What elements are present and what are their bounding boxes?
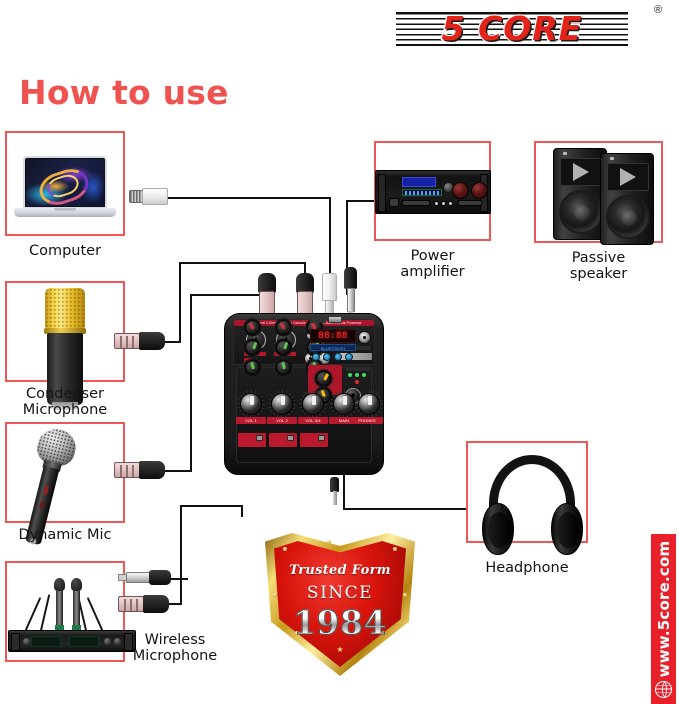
mixer-group-label [310,316,326,323]
amp-vu-meter [402,189,442,196]
usb-plug-contacts [129,190,143,203]
badge-line-2: SINCE [265,583,415,603]
ch2-high-knob[interactable] [276,340,291,355]
badge-rivet-1 [283,547,287,551]
ch2-gain-knob[interactable] [276,320,291,335]
xlr-body-1 [139,332,165,350]
wire-headphone-v1 [343,470,345,510]
amp-rca-3 [448,201,453,206]
condenser-mic-grille [45,288,85,329]
laptop-trackpad-notch [54,208,76,211]
wire-computer-h1 [160,197,331,199]
badge-line-3: 1984 [265,603,415,642]
speaker-woofer-left [559,190,603,234]
passive-speaker-label-line2: speaker [534,266,663,282]
wire-wireless-v2 [241,505,243,517]
phones-label: PHONES [351,417,383,424]
registered-trademark-icon: ® [654,4,662,16]
mixer-switch-1[interactable] [256,435,263,441]
wire-condenser-v1 [179,262,181,343]
amp-terminal-strip [402,200,430,206]
dynamic-microphone-label: Dynamic Mic [0,527,130,543]
badge-rivet-2 [327,540,331,544]
wire-dynamic-v1 [190,294,192,472]
mixer-switch-3[interactable] [318,435,325,441]
mixer-led-1 [348,373,352,377]
amp-power-socket [389,198,399,207]
antenna-1 [25,597,41,631]
logo-wordmark: 5 CORE [396,6,628,50]
usb-plug-shell-2 [322,273,337,301]
speaker-horn-left [560,158,602,186]
mixer-led-display: 88:88 [310,329,356,343]
page-title: How to use [19,73,229,112]
amp-rca-2 [441,201,446,206]
wire-amp-h1 [346,200,374,202]
wire-wireless-h2 [180,505,243,507]
mixer-usb-port[interactable] [328,316,342,323]
phones-knob[interactable] [358,393,380,415]
xlr-barrel-1 [114,333,140,349]
xlr-body-3 [143,595,169,613]
receiver-knob-1 [23,638,30,645]
wireless-mic-2-grille [71,578,82,591]
xlr-plug-2-body [296,273,314,293]
wireless-mic-1-grille [54,578,65,591]
wire-headphone-h1 [343,508,468,510]
trs-plug-grip [344,267,357,289]
trs-grip [149,570,171,585]
receiver-ear-left [11,633,20,651]
wire-dynamic-h2 [190,294,267,296]
ch1-gain-knob[interactable] [245,320,260,335]
mixer-power-led [355,380,359,384]
xlr-plug-1-body [258,273,276,293]
speaker-woofer-right [606,195,650,239]
amp-volume-knob-left [452,182,469,199]
vol34-label: VOL.3/4 [298,417,328,424]
globe-icon [655,681,672,698]
antenna-2 [40,594,50,631]
receiver-display-1 [31,636,61,647]
badge-line-1: Trusted Form [265,563,415,578]
ch2-low-knob[interactable] [276,360,291,375]
vol2-label: VOL.2 [267,417,297,424]
ch1-low-knob[interactable] [245,360,260,375]
computer-label: Computer [5,243,125,259]
speaker-led-left [563,152,567,155]
mixer-bluetooth-bar: BLUETOOTH [310,344,356,351]
main-knob[interactable] [333,393,355,415]
headphone-plug-sleeve [333,491,337,505]
mixer-led-2 [355,373,359,377]
xlr-barrel-2 [114,462,140,478]
fx-delay-knob[interactable] [316,371,331,386]
speaker-icon-left [553,148,607,240]
vol34-knob[interactable] [302,393,324,415]
condenser-microphone-label-line1: Condenser [0,386,130,402]
badge-star-icon: ★ [265,645,415,654]
usb-plug-shell [142,188,168,205]
condenser-microphone-label-line2: Microphone [0,402,130,418]
power-amplifier-label-line1: Power [374,248,491,264]
mixer-button-mode[interactable] [345,353,353,361]
wireless-mic-2-body [73,591,80,625]
amp-output-terminals [458,200,482,206]
wireless-mic-1-body [56,591,63,625]
audio-mixer[interactable]: Professional 4 Channel Mixing Console an… [224,313,384,475]
vol1-label: VOL.1 [236,417,266,424]
headphone-earcup-left [482,503,514,555]
headphone-icon [478,455,586,541]
amplifier-icon [375,170,491,214]
speaker-horn-right [607,163,649,191]
passive-speaker-label-line1: Passive [534,250,663,266]
vol2-knob[interactable] [271,393,293,415]
laptop-icon [14,156,116,218]
speaker-led-right [610,157,614,160]
trusted-form-badge: Trusted Form SINCE 1984 ★ [265,533,415,676]
headphone-plug-grip [330,477,339,492]
mixer-button-prev[interactable] [323,353,331,361]
mixer-led-3 [362,373,366,377]
laptop-screen [23,156,107,209]
xlr-body-2 [139,461,165,479]
mixer-channel-strip-2 [271,317,301,379]
antenna-4 [87,597,103,631]
xlr-barrel-3 [118,596,144,612]
trs-sleeve [126,572,150,583]
receiver-display-2 [69,636,99,647]
wireless-microphone-label-line1: Wireless [110,632,240,648]
ch1-high-knob[interactable] [245,340,260,355]
wire-wireless-v1 [180,505,182,605]
amp-rack-ear-left [378,174,386,212]
mixer-channel-strip-1 [240,317,270,379]
amp-rca-1 [434,201,439,206]
headphone-earcup-right [551,503,583,555]
speaker-icon-right [600,153,654,245]
mixer-led-group [346,367,370,371]
website-url: www.5core.com [655,533,673,685]
vol1-knob[interactable] [240,393,262,415]
mixer-button-next[interactable] [334,353,342,361]
brand-logo: 5 CORE 5 CORE [396,6,628,50]
mixer-button-play[interactable] [312,353,320,361]
amp-volume-knob-right [471,182,488,199]
headphone-plug [328,477,342,507]
wireless-microphone-icon [8,566,122,658]
wire-condenser-h2 [179,262,306,264]
mixer-monitor-out-r[interactable] [358,331,371,344]
mixer-switch-2[interactable] [287,435,294,441]
badge-rivet-3 [393,547,397,551]
power-amplifier-label-line2: amplifier [374,264,491,280]
headphone-label: Headphone [466,560,588,576]
website-strip[interactable]: www.5core.com [651,534,676,704]
amp-lcd-display [402,177,436,187]
trs-plug-sleeve [347,288,355,312]
wireless-microphone-label-line2: Microphone [110,648,240,664]
